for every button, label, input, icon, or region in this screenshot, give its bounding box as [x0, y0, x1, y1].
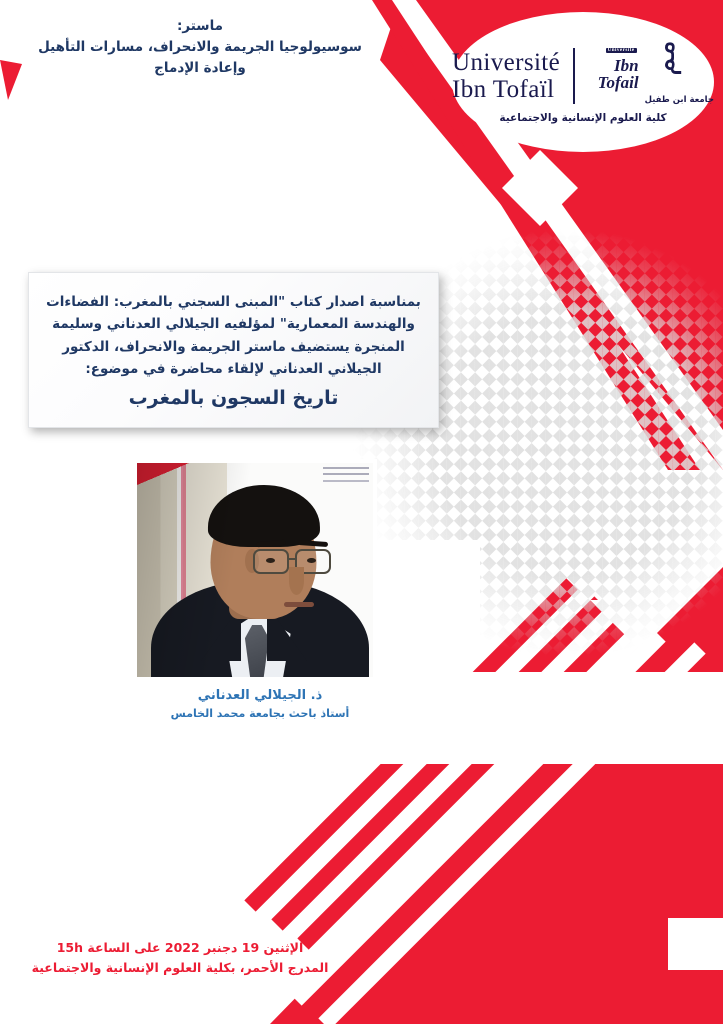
event-date-time: الإثنين 19 دجنبر 2022 على الساعة 15h — [0, 938, 360, 958]
logo-script-tiny: Université — [606, 48, 637, 53]
masters-program-block: ماستر: سوسيولوجيا الجريمة والانحراف، مسا… — [0, 16, 400, 79]
announcement-box: بمناسبة اصدار كتاب "المبنى السجني بالمغر… — [28, 272, 439, 428]
speaker-caption: ذ. الجيلالي العدناني أستاذ باحث بجامعة م… — [120, 686, 400, 722]
speaker-affiliation: أستاذ باحث بجامعة محمد الخامس — [120, 706, 400, 723]
portrait-eyeglass-bridge — [289, 558, 297, 560]
event-details: الإثنين 19 دجنبر 2022 على الساعة 15h الم… — [0, 938, 360, 978]
university-logo: مم جامعة ابن طفيل Université Ibn Tofail … — [452, 12, 714, 152]
logo-arabic-mark-text: جامعة ابن طفيل — [645, 95, 714, 105]
calligraphy-swoosh-icon: مم — [650, 39, 680, 75]
portrait-eye-left — [266, 558, 275, 563]
speaker-name: ذ. الجيلالي العدناني — [120, 686, 400, 706]
event-venue: المدرج الأحمر، بكلية العلوم الإنسانية وا… — [0, 958, 360, 978]
event-poster: ماستر: سوسيولوجيا الجريمة والانحراف، مسا… — [0, 0, 723, 1024]
announcement-body: بمناسبة اصدار كتاب "المبنى السجني بالمغر… — [45, 291, 422, 380]
portrait-backdrop-logo — [323, 467, 369, 501]
portrait-mouth — [284, 602, 314, 607]
university-name-line2: Ibn Tofaïl — [452, 76, 560, 103]
portrait-eye-right — [307, 558, 316, 563]
arabic-calligraphy-icon: مم جامعة ابن طفيل — [645, 45, 714, 107]
university-name: Université Ibn Tofaïl — [452, 49, 560, 103]
announcement-topic: تاريخ السجون بالمغرب — [45, 386, 422, 411]
faculty-name: كلية العلوم الإنسانية والاجتماعية — [499, 112, 666, 124]
speaker-portrait-image — [137, 463, 373, 677]
checker-mask-lower — [352, 672, 723, 764]
portrait-corner-accent — [137, 463, 189, 485]
portrait-backdrop-stripe — [181, 463, 186, 611]
logo-divider — [573, 48, 574, 104]
masters-label: ماستر: — [18, 16, 382, 37]
logo-script-mark: Université Ibn Tofail — [588, 57, 639, 91]
portrait-nose — [289, 567, 304, 595]
speaker-photo — [133, 459, 377, 681]
logo-script-text: Ibn Tofail — [598, 56, 639, 92]
masters-title: سوسيولوجيا الجريمة والانحراف، مسارات الت… — [18, 37, 382, 79]
university-name-line1: Université — [452, 49, 560, 76]
